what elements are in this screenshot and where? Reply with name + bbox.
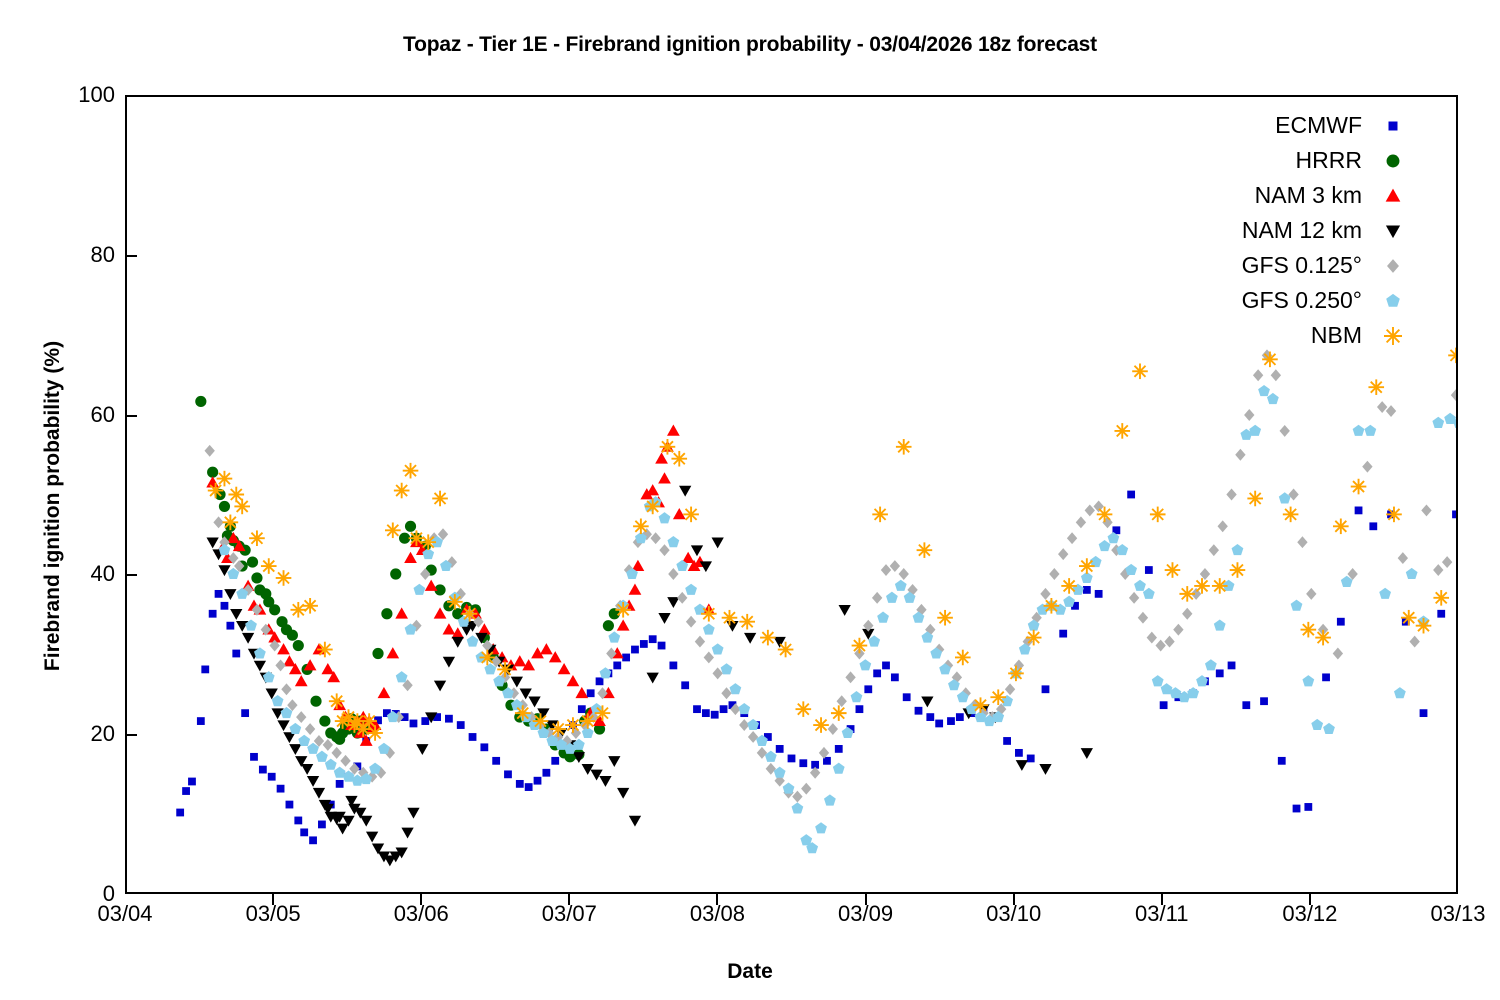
data-point	[300, 828, 308, 836]
legend-item-nam-12-km[interactable]: NAM 12 km	[1175, 213, 1410, 248]
data-point	[881, 564, 891, 576]
data-point	[1155, 640, 1165, 652]
data-point	[469, 733, 477, 741]
data-point	[1182, 608, 1192, 620]
data-point	[744, 633, 756, 644]
data-point	[1351, 479, 1367, 495]
data-point	[1061, 578, 1077, 594]
data-point	[839, 605, 851, 616]
data-point	[347, 717, 363, 733]
data-point	[396, 671, 408, 682]
x-tick-mark	[865, 894, 867, 905]
data-point	[287, 630, 298, 641]
data-point	[329, 693, 345, 709]
data-point	[1042, 685, 1050, 693]
data-point	[629, 816, 641, 827]
legend-label: GFS 0.125°	[1242, 252, 1376, 279]
data-point	[1420, 709, 1428, 717]
data-point	[528, 696, 540, 707]
data-point	[261, 558, 277, 574]
legend-item-gfs-0-125[interactable]: GFS 0.125°	[1175, 248, 1410, 283]
data-point	[703, 623, 715, 634]
data-point	[1306, 588, 1316, 600]
data-point	[788, 755, 796, 763]
data-point	[504, 770, 512, 778]
data-point	[1291, 600, 1303, 611]
data-point	[1044, 598, 1060, 614]
data-point	[219, 501, 230, 512]
data-point	[1015, 749, 1023, 757]
data-point	[668, 568, 678, 580]
data-point	[667, 536, 679, 547]
data-point	[1147, 632, 1157, 644]
data-point	[251, 572, 262, 583]
data-point	[691, 545, 703, 556]
data-point	[1008, 666, 1024, 682]
data-point	[1196, 675, 1208, 686]
data-point	[462, 606, 478, 622]
data-point	[410, 720, 418, 728]
data-point	[1039, 764, 1051, 775]
data-point	[447, 594, 463, 610]
data-point	[660, 439, 676, 455]
data-point	[926, 713, 934, 721]
data-point	[260, 588, 271, 599]
data-point	[176, 809, 184, 817]
data-point	[480, 743, 488, 751]
data-point	[420, 534, 436, 550]
data-point	[1432, 417, 1444, 428]
data-point	[667, 425, 680, 436]
series-ecmwf	[176, 491, 1456, 845]
data-point	[551, 757, 559, 765]
data-point	[640, 640, 648, 648]
data-point	[401, 828, 413, 839]
legend-label: HRRR	[1296, 147, 1376, 174]
data-point	[1165, 562, 1181, 578]
data-point	[833, 763, 845, 774]
data-point	[226, 622, 234, 630]
data-point	[765, 751, 777, 762]
data-point	[1209, 544, 1219, 556]
data-point	[596, 677, 604, 685]
data-point	[695, 636, 705, 648]
data-point	[335, 713, 351, 729]
data-point	[608, 756, 620, 767]
data-point	[208, 483, 224, 499]
data-point	[1205, 659, 1217, 670]
data-point	[513, 655, 526, 666]
data-point	[824, 794, 836, 805]
data-point	[1260, 697, 1268, 705]
data-point	[729, 683, 741, 694]
data-point	[1280, 425, 1290, 437]
data-point	[558, 663, 571, 674]
data-point	[269, 604, 280, 615]
data-point	[1063, 596, 1075, 607]
data-point	[872, 592, 882, 604]
data-point	[540, 643, 553, 654]
data-point	[1125, 564, 1137, 575]
data-point	[864, 685, 872, 693]
data-point	[550, 721, 566, 737]
data-point	[1409, 636, 1419, 648]
x-tick-mark	[1161, 894, 1163, 905]
data-point	[1448, 348, 1456, 364]
data-point	[213, 516, 223, 528]
data-point	[693, 705, 701, 713]
data-point	[1362, 461, 1372, 473]
data-point	[1442, 556, 1452, 568]
data-point	[1301, 622, 1317, 638]
data-point	[711, 711, 719, 719]
data-point	[868, 635, 880, 646]
data-point	[1451, 389, 1456, 401]
data-point	[896, 439, 912, 455]
data-point	[658, 642, 666, 650]
data-point	[1016, 760, 1028, 771]
data-point	[645, 499, 661, 515]
data-point	[515, 705, 531, 721]
data-point	[681, 681, 689, 689]
y-axis-title: Firebrand ignition probability (%)	[41, 186, 65, 826]
data-point	[677, 592, 687, 604]
legend-item-nam-3-km[interactable]: NAM 3 km	[1175, 178, 1410, 213]
data-point	[739, 614, 755, 630]
x-tick-mark	[1013, 894, 1015, 905]
data-point	[1160, 701, 1168, 709]
data-point	[774, 767, 786, 778]
data-point	[313, 788, 325, 799]
data-point	[655, 452, 668, 463]
data-point	[622, 654, 630, 662]
data-point	[1083, 586, 1091, 594]
data-point	[1437, 610, 1445, 618]
data-point	[378, 687, 391, 698]
data-point	[813, 717, 829, 733]
data-point	[1253, 369, 1263, 381]
data-point	[511, 677, 523, 688]
data-point	[209, 610, 217, 618]
data-point	[659, 512, 671, 523]
data-point	[667, 597, 679, 608]
data-point	[385, 522, 401, 538]
data-point	[404, 552, 417, 563]
data-point	[1244, 409, 1254, 421]
data-point	[336, 824, 348, 835]
data-point	[1311, 719, 1323, 730]
data-point	[254, 661, 266, 672]
data-point	[334, 734, 345, 745]
data-point	[443, 623, 456, 634]
data-point	[197, 717, 205, 725]
data-point	[188, 778, 196, 786]
data-point	[268, 773, 276, 781]
data-point	[792, 802, 804, 813]
data-point	[259, 766, 267, 774]
data-point	[232, 650, 240, 658]
data-point	[276, 570, 292, 586]
data-point	[891, 673, 899, 681]
data-point	[298, 735, 310, 746]
data-point	[1226, 489, 1236, 501]
data-point	[323, 739, 333, 751]
data-point	[272, 695, 284, 706]
data-point	[801, 783, 811, 795]
data-point	[1114, 423, 1130, 439]
data-point	[1267, 393, 1279, 404]
data-point	[307, 776, 319, 787]
data-point	[1027, 755, 1035, 763]
data-point	[659, 544, 669, 556]
data-point	[631, 646, 639, 654]
data-point	[845, 671, 855, 683]
data-point	[1187, 687, 1199, 698]
data-point	[565, 717, 581, 733]
x-axis-title: Date	[0, 960, 1500, 984]
chart-page: Topaz - Tier 1E - Firebrand ignition pro…	[0, 0, 1500, 1000]
data-point	[873, 669, 881, 677]
data-point	[221, 602, 229, 610]
data-point	[432, 491, 448, 507]
data-point	[760, 630, 776, 646]
data-point	[1076, 516, 1086, 528]
data-point	[1235, 449, 1245, 461]
legend-label: ECMWF	[1275, 112, 1376, 139]
data-point	[686, 616, 696, 628]
legend-label: NBM	[1311, 322, 1376, 349]
data-point	[289, 723, 301, 734]
data-point	[309, 836, 317, 844]
legend-item-ecmwf[interactable]: ECMWF	[1175, 108, 1410, 143]
data-point	[658, 472, 671, 483]
data-point	[646, 484, 659, 495]
data-point	[590, 770, 602, 781]
data-point	[647, 673, 659, 684]
data-point	[1194, 578, 1210, 594]
data-point	[921, 696, 933, 707]
data-point	[783, 782, 795, 793]
data-point	[1293, 805, 1301, 813]
data-point	[394, 483, 410, 499]
data-point	[890, 560, 900, 572]
data-point	[1386, 405, 1396, 417]
data-point	[1283, 507, 1299, 523]
data-point	[1230, 562, 1246, 578]
x-tick-label: 03/13	[1388, 901, 1500, 927]
data-point	[340, 755, 350, 767]
legend-label: GFS 0.250°	[1242, 287, 1376, 314]
data-point	[399, 533, 410, 544]
data-point	[390, 568, 401, 579]
data-point	[492, 757, 500, 765]
data-point	[230, 609, 242, 620]
data-point	[234, 499, 250, 515]
data-point	[1323, 723, 1335, 734]
data-point	[701, 606, 717, 622]
data-point	[1288, 489, 1298, 501]
data-point	[310, 696, 321, 707]
data-point	[305, 723, 315, 735]
data-point	[534, 777, 542, 785]
data-point	[1164, 636, 1174, 648]
data-point	[421, 717, 429, 725]
chart-title: Topaz - Tier 1E - Firebrand ignition pro…	[0, 33, 1500, 57]
data-point	[369, 763, 381, 774]
legend-marker-triangle-up-icon	[1376, 181, 1410, 211]
data-point	[669, 662, 677, 670]
data-point	[289, 744, 301, 755]
data-point	[219, 544, 231, 555]
data-point	[895, 580, 907, 591]
data-point	[720, 705, 728, 713]
data-point	[1127, 491, 1135, 499]
data-point	[600, 667, 612, 678]
data-point	[872, 507, 888, 523]
data-point	[250, 753, 258, 761]
data-point	[293, 640, 304, 651]
y-tick-mark	[125, 255, 137, 257]
data-point	[321, 663, 334, 674]
data-point	[1322, 673, 1330, 681]
data-point	[1145, 566, 1153, 574]
data-point	[748, 731, 758, 743]
data-point	[1271, 369, 1281, 381]
data-point	[567, 675, 580, 686]
data-point	[582, 764, 594, 775]
data-point	[296, 711, 306, 723]
data-point	[318, 821, 326, 829]
x-tick-label: 03/04	[55, 901, 195, 927]
data-point	[757, 747, 767, 759]
data-point	[578, 705, 586, 713]
data-point	[575, 687, 588, 698]
data-point	[1079, 558, 1095, 574]
data-point	[201, 666, 209, 674]
data-point	[1218, 520, 1228, 532]
data-point	[425, 580, 438, 591]
data-point	[1421, 504, 1431, 516]
data-point	[1353, 425, 1365, 436]
data-point	[1377, 401, 1387, 413]
data-point	[281, 683, 291, 695]
data-point	[650, 532, 660, 544]
data-point	[1132, 363, 1148, 379]
data-point	[722, 610, 738, 626]
data-point	[747, 719, 759, 730]
data-point	[224, 589, 236, 600]
legend-item-gfs-0-250[interactable]: GFS 0.250°	[1175, 283, 1410, 318]
legend-item-nbm[interactable]: NBM	[1175, 318, 1410, 353]
data-point	[1355, 507, 1363, 515]
data-point	[658, 613, 670, 624]
data-point	[882, 662, 890, 670]
data-point	[1097, 507, 1113, 523]
data-point	[366, 832, 378, 843]
data-point	[856, 705, 864, 713]
data-point	[1214, 619, 1226, 630]
data-point	[595, 705, 611, 721]
legend-item-hrrr[interactable]: HRRR	[1175, 143, 1410, 178]
data-point	[403, 463, 419, 479]
data-point	[360, 816, 372, 827]
data-point	[277, 720, 289, 731]
legend-marker-pentagon-icon	[1376, 286, 1410, 316]
x-tick-mark	[272, 894, 274, 905]
data-point	[671, 451, 687, 467]
data-point	[1232, 544, 1244, 555]
data-point	[633, 519, 649, 535]
data-point	[413, 584, 425, 595]
data-point	[917, 542, 933, 558]
legend-marker-diamond-icon	[1376, 251, 1410, 281]
data-point	[378, 743, 390, 754]
legend-marker-circle-icon	[1376, 146, 1410, 176]
data-point	[915, 707, 923, 715]
data-point	[615, 602, 631, 618]
data-point	[302, 598, 318, 614]
data-point	[1093, 500, 1103, 512]
data-point	[294, 817, 302, 825]
legend-marker-asterisk-icon	[1376, 321, 1410, 351]
data-point	[721, 663, 733, 674]
data-point	[480, 650, 496, 666]
data-point	[223, 515, 239, 531]
data-point	[617, 619, 630, 630]
data-point	[1152, 675, 1164, 686]
data-point	[1116, 544, 1128, 555]
data-point	[1058, 548, 1068, 560]
data-point	[1138, 612, 1148, 624]
data-point	[617, 788, 629, 799]
data-point	[275, 659, 285, 671]
data-point	[1386, 507, 1402, 523]
data-point	[1228, 662, 1236, 670]
data-point	[580, 713, 596, 729]
data-point	[679, 486, 691, 497]
data-point	[497, 662, 513, 678]
data-point	[683, 507, 699, 523]
data-point	[1406, 568, 1418, 579]
data-point	[903, 693, 911, 701]
data-point	[215, 590, 223, 598]
data-point	[1099, 540, 1111, 551]
data-point	[1249, 425, 1261, 436]
x-tick-mark	[568, 894, 570, 905]
data-point	[1333, 519, 1349, 535]
data-point	[416, 744, 428, 755]
data-point	[955, 650, 971, 666]
data-point	[1401, 610, 1417, 626]
data-point	[831, 705, 847, 721]
data-point	[443, 657, 455, 668]
data-point	[1216, 669, 1224, 677]
data-point	[1368, 379, 1384, 395]
data-point	[649, 635, 657, 643]
data-point	[629, 584, 642, 595]
data-point	[1173, 624, 1183, 636]
data-point	[603, 620, 614, 631]
data-point	[1129, 592, 1139, 604]
data-point	[1150, 507, 1166, 523]
y-tick-mark	[125, 574, 137, 576]
data-point	[317, 642, 333, 658]
data-point	[434, 681, 446, 692]
data-point	[828, 723, 838, 735]
data-point	[205, 445, 215, 457]
data-point	[835, 745, 843, 753]
data-point	[286, 801, 294, 809]
